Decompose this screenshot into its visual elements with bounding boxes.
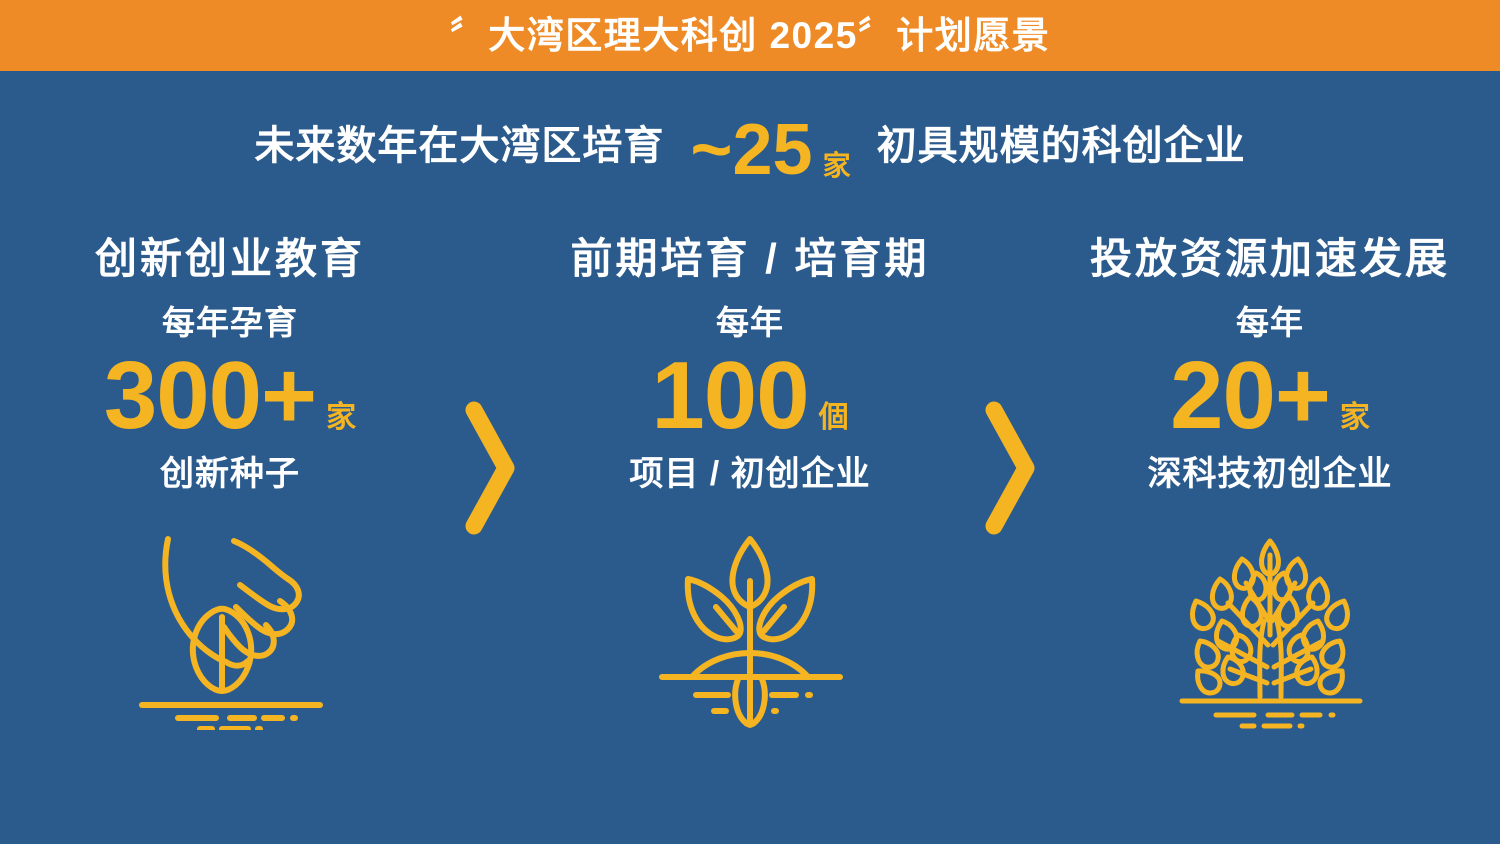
stage-heading: 创新创业教育 [95,238,365,280]
stage-caption-top: 每年孕育 [162,306,298,339]
subtitle-trail-text: 初具规模的科创企业 [877,126,1246,166]
mature-tree-icon [1155,517,1385,737]
stage-heading: 前期培育 / 培育期 [570,238,929,280]
stage-stat: 100 個 [651,345,848,441]
stage-number: 20+ [1170,350,1330,441]
stage-heading: 投放资源加速发展 [1090,238,1450,280]
stage-stat: 20+ 家 [1170,345,1370,441]
stage-caption-top: 每年 [716,306,784,339]
stage-caption-bottom: 创新种子 [160,457,300,491]
stage-unit: 個 [819,403,849,433]
stage-number: 100 [651,350,808,441]
chevron-right-icon [460,238,520,838]
stage-number: 300+ [104,350,316,441]
stage-stat: 300+ 家 [104,345,356,441]
subtitle-figure: ~25 [690,114,812,186]
pipeline-stage-education: 创新创业教育 每年孕育 300+ 家 创新种子 [0,238,460,737]
header-band: 〞大湾区理大科创 2025〞计划愿景 [0,0,1500,71]
pipeline-columns: 创新创业教育 每年孕育 300+ 家 创新种子 [0,238,1500,838]
subtitle-lead-text: 未来数年在大湾区培育 [254,126,664,166]
stage-caption-top: 每年 [1236,306,1304,339]
hand-planting-seed-icon [115,517,345,737]
chevron-right-icon [980,238,1040,838]
stage-caption-bottom: 项目 / 初创企业 [629,457,870,491]
stage-caption-bottom: 深科技初创企业 [1148,457,1393,491]
sprout-seedling-icon [635,517,865,737]
page-title: 〞大湾区理大科创 2025〞计划愿景 [450,17,1051,54]
subtitle-row: 未来数年在大湾区培育 ~25 家 初具规模的科创企业 [0,96,1500,196]
subtitle-unit: 家 [823,152,851,180]
pipeline-stage-incubation: 前期培育 / 培育期 每年 100 個 项目 / 初创企业 [520,238,980,737]
pipeline-stage-acceleration: 投放资源加速发展 每年 20+ 家 深科技初创企业 [1040,238,1500,737]
stage-unit: 家 [326,403,356,433]
infographic-slide: 〞大湾区理大科创 2025〞计划愿景 未来数年在大湾区培育 ~25 家 初具规模… [0,0,1500,844]
stage-unit: 家 [1340,403,1370,433]
